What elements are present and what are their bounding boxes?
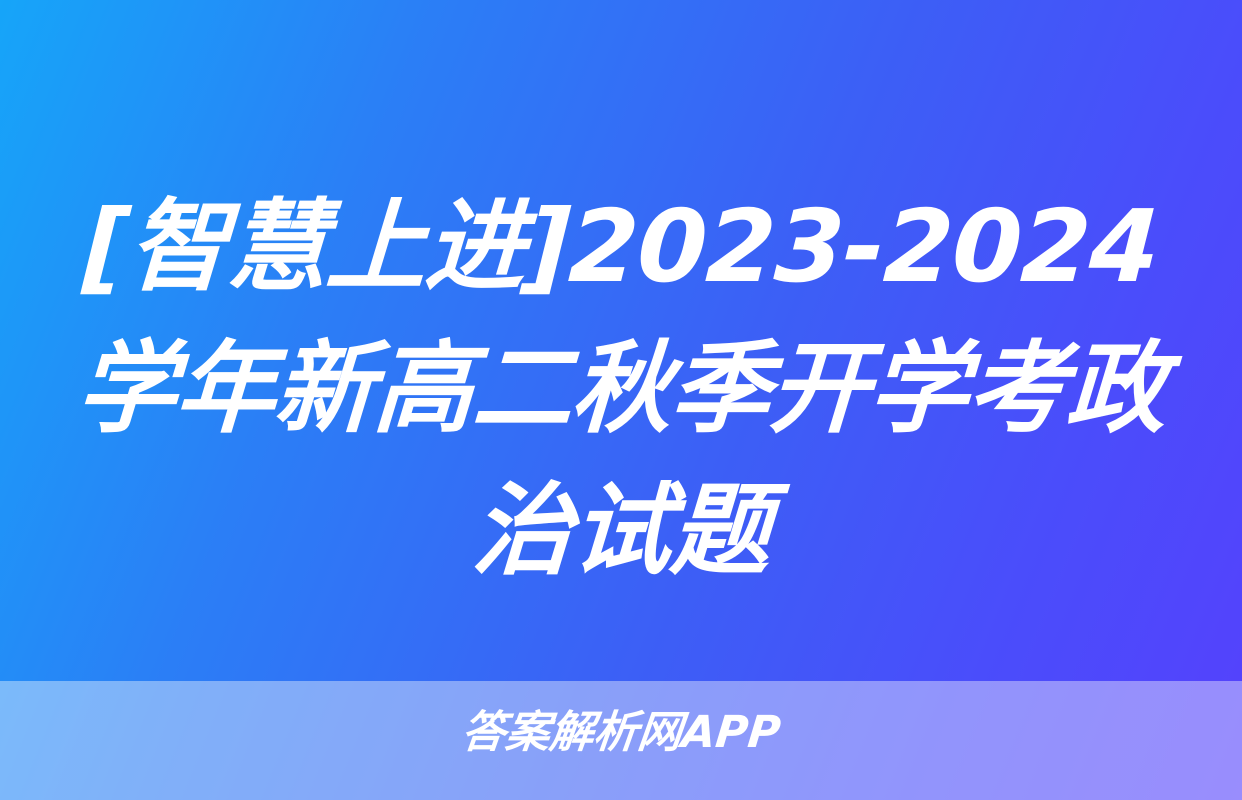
footer-watermark: 答案解析网APP (0, 703, 1242, 763)
title-line-2: 学年新高二秋季开学考政 (60, 318, 1181, 460)
title-line-1: [智慧上进]2023-2024 (60, 176, 1181, 318)
title-line-3: 治试题 (60, 460, 1181, 602)
cover-title: [智慧上进]2023-2024 学年新高二秋季开学考政 治试题 (0, 176, 1242, 602)
cover-canvas: [智慧上进]2023-2024 学年新高二秋季开学考政 治试题 答案解析网APP (0, 0, 1242, 800)
